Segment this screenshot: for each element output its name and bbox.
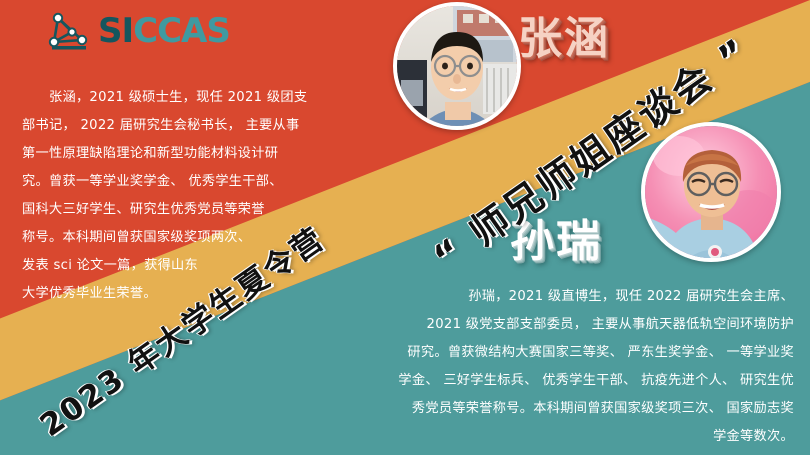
portrait-zhang-han-image: [397, 6, 517, 126]
logo-wordmark: SICCAS: [98, 14, 230, 48]
bio-text-zhang-han: 张涵，2021 级硕士生，现任 2021 级团支 部书记， 2022 届研究生会…: [22, 84, 382, 308]
logo-wordmark-si: SI: [98, 11, 133, 51]
siccas-logo: SICCAS: [48, 8, 238, 54]
molecule-network-icon: [48, 10, 94, 52]
poster-canvas: SICCAS 张涵，2021 级硕士生，现任 2021 级团支 部书记， 202…: [0, 0, 810, 455]
logo-wordmark-ccas: CCAS: [133, 11, 230, 51]
bio-text-sun-rui: 孙瑞，2021 级直博生，现任 2022 届研究生会主席、 2021 级党支部支…: [352, 283, 794, 451]
portrait-zhang-han: [393, 2, 521, 130]
portrait-sun-rui: [641, 122, 781, 262]
portrait-sun-rui-image: [645, 126, 777, 258]
name-label-zhang-han: 张涵: [518, 2, 610, 66]
